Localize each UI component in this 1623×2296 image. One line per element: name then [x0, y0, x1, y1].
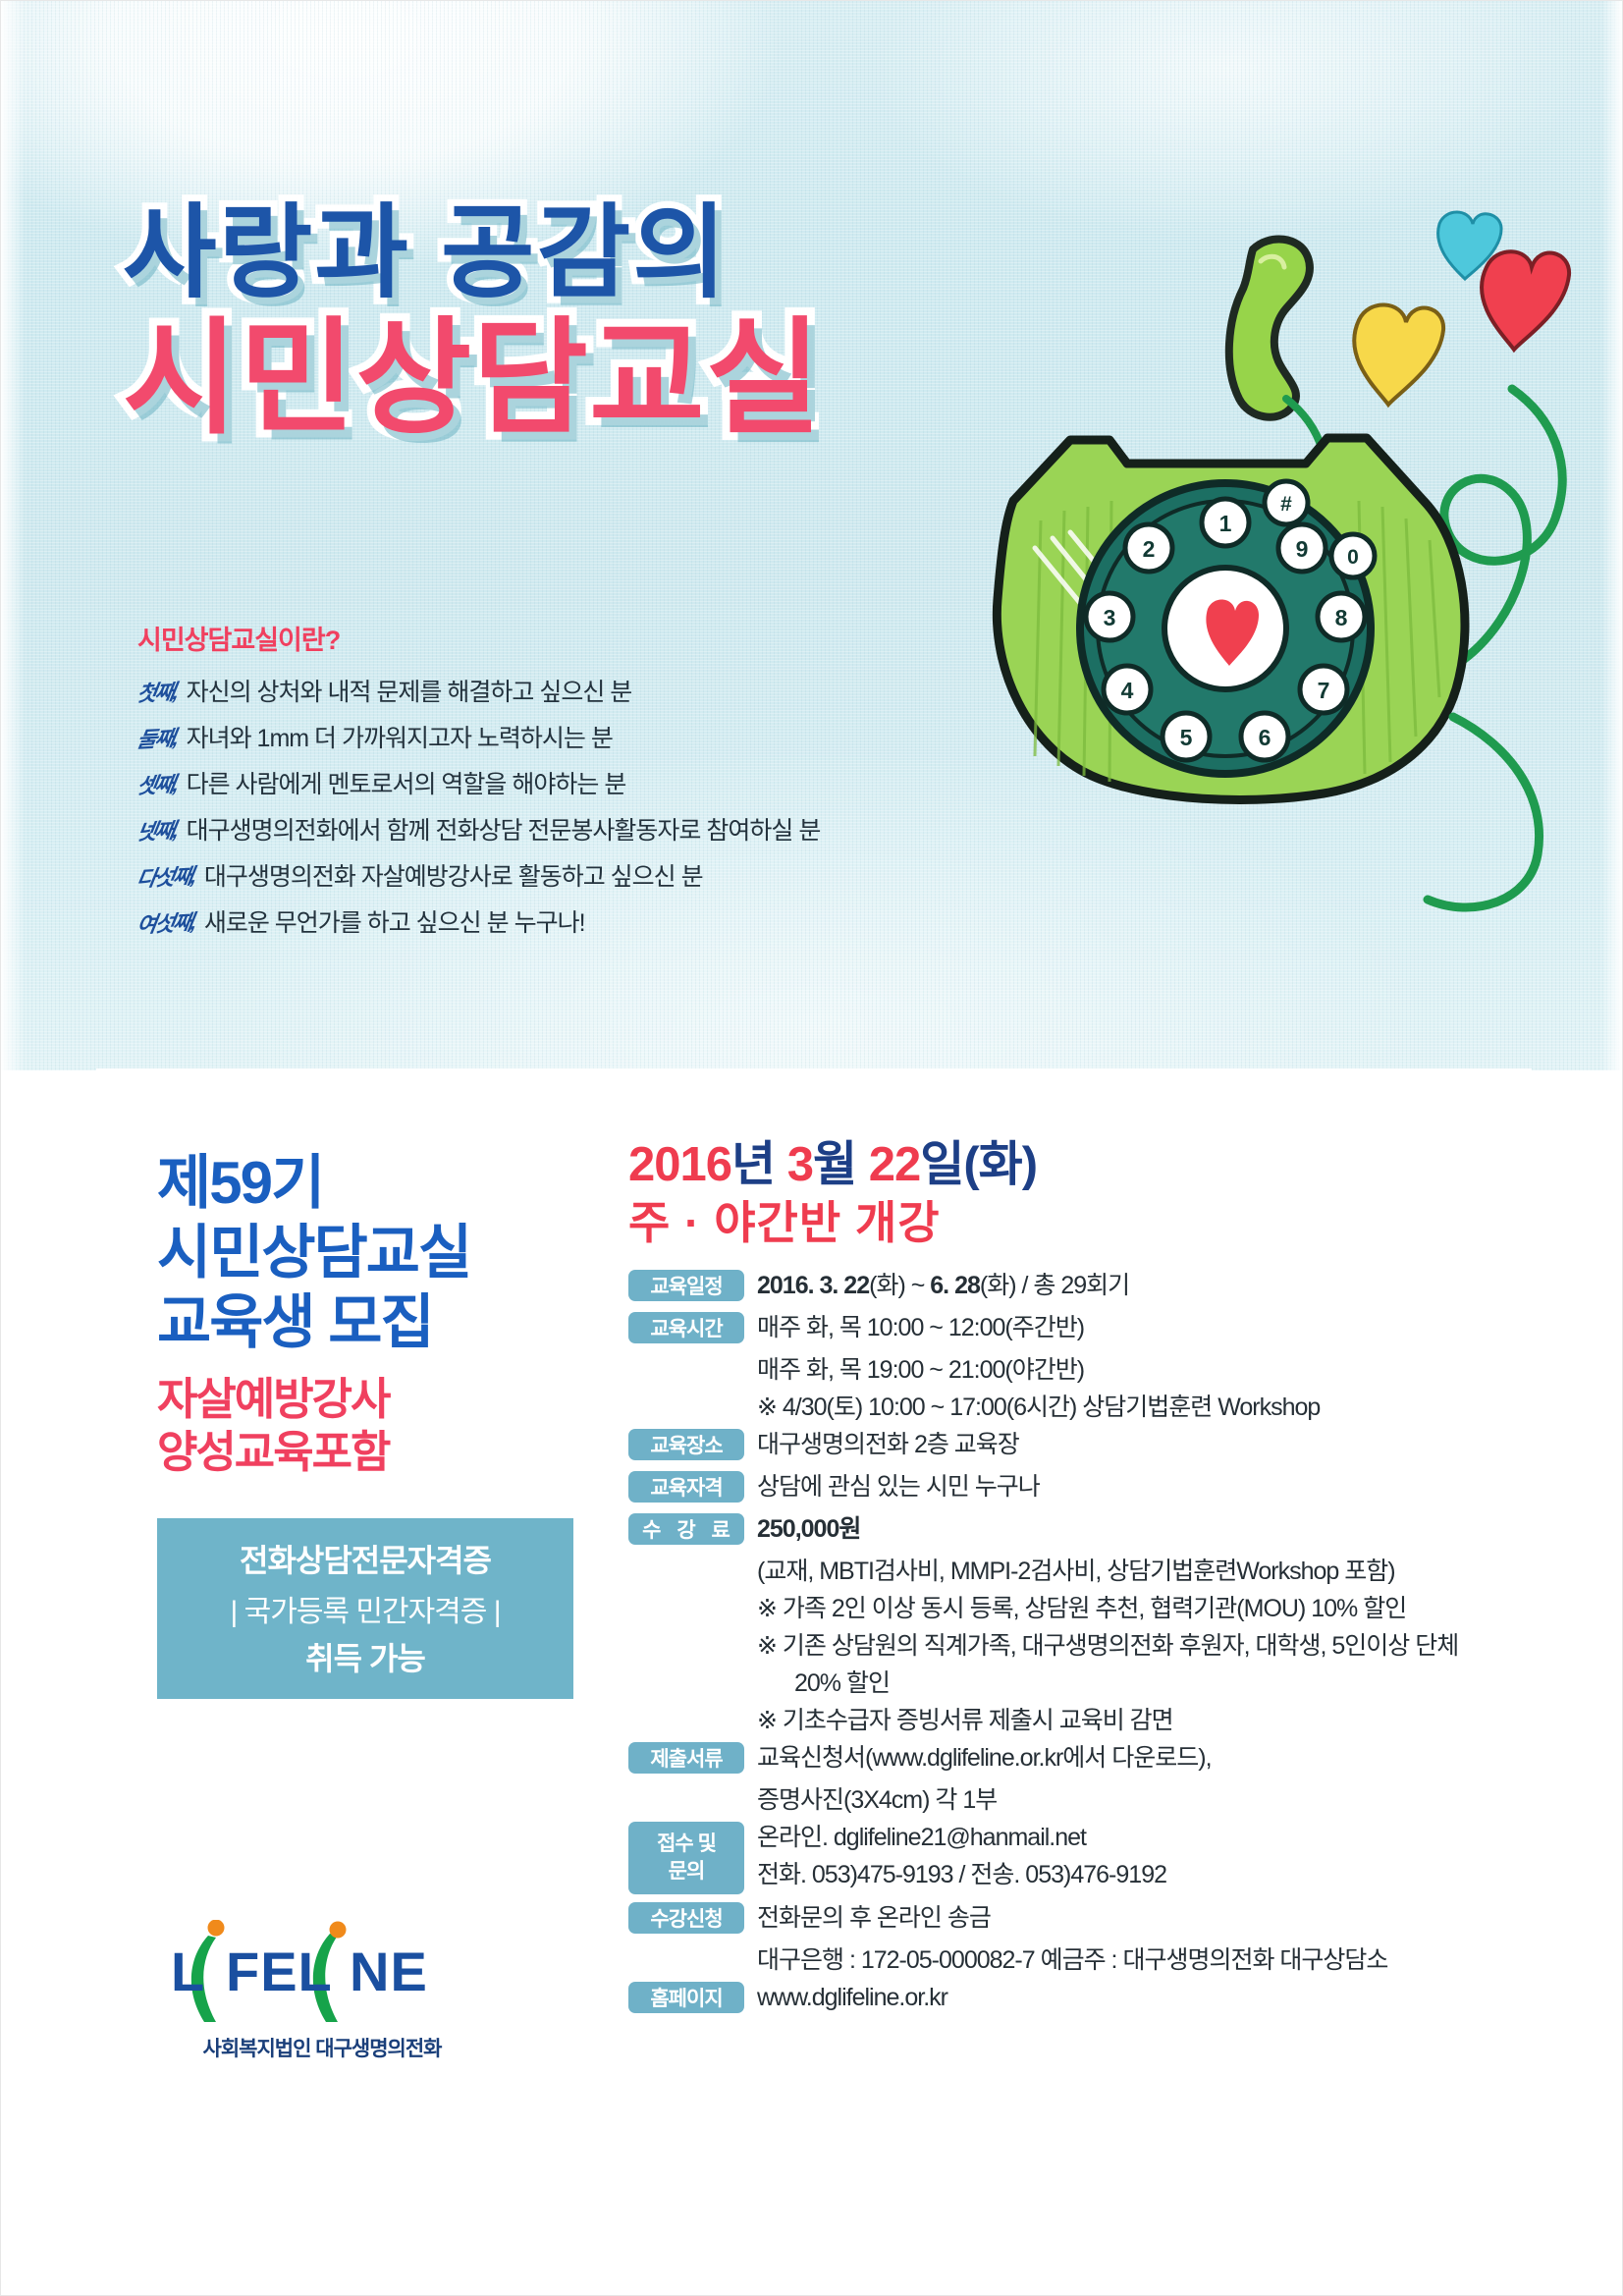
intro-item: 셋째, 다른 사람에게 멘토로서의 역할을 해야하는 분	[137, 765, 982, 800]
detail-extra-time-1: 매주 화, 목 19:00 ~ 21:00(야간반)	[757, 1351, 1512, 1389]
start-month: 3	[787, 1138, 813, 1191]
intro-text: 다른 사람에게 멘토로서의 역할을 해야하는 분	[187, 765, 626, 800]
detail-label-fee: 수 강 료	[628, 1513, 744, 1545]
detail-row-homepage: 홈페이지 www.dglifeline.or.kr	[628, 1979, 1512, 2016]
detail-value-application: 전화문의 후 온라인 송금	[757, 1899, 991, 1937]
detail-extra-fee-2: ※ 가족 2인 이상 동시 등록, 상담원 추천, 협력기관(MOU) 10% …	[757, 1590, 1512, 1627]
svg-text:6: 6	[1259, 725, 1271, 750]
start-day-suffix: 일(화)	[920, 1138, 1037, 1191]
svg-text:L: L	[171, 1941, 205, 2002]
detail-row-contact: 접수 및 문의 온라인. dglifeline21@hanmail.net 전화…	[628, 1819, 1512, 1894]
detail-extra-fee-1: (교재, MBTI검사비, MMPI-2검사비, 상담기법훈련Workshop …	[757, 1553, 1512, 1590]
svg-text:2: 2	[1143, 536, 1156, 562]
course-headline: 제59기 시민상담교실 교육생 모집	[157, 1149, 579, 1357]
detail-extra-fee-5: ※ 기초수급자 증빙서류 제출시 교육비 감면	[757, 1702, 1512, 1739]
start-day: 22	[869, 1138, 921, 1191]
title-line-2: 시민상담교실	[123, 315, 823, 444]
heart-red	[1482, 251, 1569, 350]
svg-text:4: 4	[1121, 678, 1134, 703]
start-year-suffix: 년	[731, 1138, 775, 1191]
detail-label-schedule: 교육일정	[628, 1270, 744, 1301]
course-subheadline-line-1: 자살예방강사	[157, 1373, 579, 1426]
detail-value-time: 매주 화, 목 10:00 ~ 12:00(주간반)	[757, 1309, 1084, 1346]
certificate-line-2: | 국가등록 민간자격증 |	[167, 1587, 564, 1630]
svg-text:#: #	[1280, 493, 1292, 516]
intro-ordinal: 셋째,	[135, 767, 180, 800]
detail-label-time: 교육시간	[628, 1312, 744, 1343]
svg-text:9: 9	[1296, 536, 1309, 562]
intro-item: 둘째, 자녀와 1mm 더 가까워지고자 노력하시는 분	[137, 719, 982, 754]
intro-ordinal: 첫째,	[135, 675, 180, 708]
svg-text:0: 0	[1347, 546, 1359, 569]
logo-subtitle: 사회복지법인 대구생명의전화	[165, 2033, 479, 2062]
detail-label-contact: 접수 및 문의	[628, 1822, 744, 1894]
sky-edge-right	[1601, 0, 1623, 1070]
detail-extra-bank: 대구은행 : 172-05-000082-7 예금주 : 대구생명의전화 대구상…	[757, 1941, 1512, 1979]
detail-value-documents: 교육신청서(www.dglifeline.or.kr에서 다운로드),	[757, 1739, 1212, 1777]
detail-extra-time-2: ※ 4/30(토) 10:00 ~ 17:00(6시간) 상담기법훈련 Work…	[757, 1389, 1512, 1426]
intro-text: 자신의 상처와 내적 문제를 해결하고 싶으신 분	[187, 673, 632, 708]
svg-text:FEL: FEL	[226, 1941, 333, 2002]
certificate-line-3: 취득 가능	[167, 1634, 564, 1679]
phone-handset	[1229, 240, 1310, 417]
poster-title: 사랑과 공감의 시민상담교실	[123, 201, 823, 444]
telephone-illustration: 1 2 3 4 5 6 7 8 9 #	[962, 206, 1591, 933]
detail-value-contact-phone: 전화. 053)475-9193 / 전송. 053)476-9192	[757, 1856, 1166, 1893]
detail-label-homepage: 홈페이지	[628, 1982, 744, 2013]
intro-ordinal: 넷째,	[135, 813, 180, 847]
right-column: 2016년 3월 22일(화) 주 · 야간반 개강 교육일정 2016. 3.…	[628, 1137, 1512, 2021]
detail-label-application: 수강신청	[628, 1902, 744, 1934]
schedule-end-suffix: (화) / 총 29회기	[980, 1272, 1129, 1299]
svg-text:8: 8	[1335, 605, 1348, 630]
certificate-box: 전화상담전문자격증 | 국가등록 민간자격증 | 취득 가능	[157, 1518, 573, 1699]
detail-row-documents: 제출서류 교육신청서(www.dglifeline.or.kr에서 다운로드),	[628, 1739, 1512, 1777]
start-month-suffix: 월	[813, 1138, 856, 1191]
course-subheadline-line-2: 양성교육포함	[157, 1426, 579, 1479]
logo-dot-right	[330, 1922, 347, 1939]
detail-rows: 교육일정 2016. 3. 22(화) ~ 6. 28(화) / 총 29회기 …	[628, 1267, 1512, 2016]
detail-extra-fee-4: 20% 할인	[794, 1665, 1512, 1702]
intro-heading: 시민상담교실이란?	[137, 619, 982, 657]
sky-edge-left	[0, 0, 26, 1070]
detail-label-eligibility: 교육자격	[628, 1471, 744, 1503]
detail-extra-documents-1: 증명사진(3X4cm) 각 1부	[757, 1781, 1512, 1819]
intro-text: 새로운 무언가를 하고 싶으신 분 누구나!	[204, 903, 585, 939]
detail-label-contact-line-1: 접수 및	[657, 1831, 716, 1858]
schedule-start-suffix: (화) ~	[869, 1272, 930, 1299]
detail-value-place: 대구생명의전화 2층 교육장	[757, 1426, 1019, 1463]
course-headline-line-1: 제59기	[157, 1149, 579, 1219]
svg-text:NE: NE	[350, 1941, 428, 2002]
intro-ordinal: 다섯째,	[135, 858, 198, 893]
intro-item: 다섯째, 대구생명의전화 자살예방강사로 활동하고 싶으신 분	[137, 857, 982, 893]
detail-row-fee: 수 강 료 250,000원	[628, 1510, 1512, 1548]
class-opening-line: 주 · 야간반 개강	[628, 1196, 1512, 1249]
detail-label-documents: 제출서류	[628, 1742, 744, 1774]
detail-value-fee: 250,000원	[757, 1510, 860, 1548]
detail-extra-fee-3: ※ 기존 상담원의 직계가족, 대구생명의전화 후원자, 대학생, 5인이상 단…	[757, 1627, 1512, 1665]
intro-text: 자녀와 1mm 더 가까워지고자 노력하시는 분	[187, 719, 613, 754]
course-headline-line-2: 시민상담교실	[157, 1219, 579, 1288]
detail-value-contact-online: 온라인. dglifeline21@hanmail.net	[757, 1819, 1166, 1856]
course-headline-line-3: 교육생 모집	[157, 1288, 579, 1358]
detail-row-application: 수강신청 전화문의 후 온라인 송금	[628, 1899, 1512, 1937]
poster-root: 1 2 3 4 5 6 7 8 9 #	[0, 0, 1623, 2296]
detail-value-schedule: 2016. 3. 22(화) ~ 6. 28(화) / 총 29회기	[757, 1267, 1129, 1304]
certificate-line-1: 전화상담전문자격증	[167, 1536, 564, 1581]
heart-yellow	[1354, 304, 1443, 405]
intro-ordinal: 둘째,	[135, 721, 180, 754]
intro-item: 여섯째, 새로운 무언가를 하고 싶으신 분 누구나!	[137, 903, 982, 939]
lifeline-logo-mark: L FEL NE	[165, 1920, 479, 2026]
intro-ordinal: 여섯째,	[135, 904, 198, 939]
phone-body: 1 2 3 4 5 6 7 8 9 #	[997, 438, 1465, 799]
intro-text: 대구생명의전화 자살예방강사로 활동하고 싶으신 분	[204, 857, 703, 893]
svg-text:1: 1	[1219, 511, 1232, 536]
svg-text:3: 3	[1104, 605, 1116, 630]
detail-row-eligibility: 교육자격 상담에 관심 있는 시민 누구나	[628, 1468, 1512, 1505]
detail-value-eligibility: 상담에 관심 있는 시민 누구나	[757, 1468, 1040, 1505]
intro-text: 대구생명의전화에서 함께 전화상담 전문봉사활동자로 참여하실 분	[187, 811, 821, 847]
schedule-end: 6. 28	[930, 1272, 980, 1299]
detail-value-homepage[interactable]: www.dglifeline.or.kr	[757, 1979, 947, 2016]
left-column: 제59기 시민상담교실 교육생 모집 자살예방강사 양성교육포함 전화상담전문자…	[157, 1149, 579, 1699]
detail-label-place: 교육장소	[628, 1429, 744, 1460]
svg-text:7: 7	[1318, 678, 1330, 703]
detail-label-contact-line-2: 문의	[669, 1858, 705, 1886]
detail-row-schedule: 교육일정 2016. 3. 22(화) ~ 6. 28(화) / 총 29회기	[628, 1267, 1512, 1304]
intro-section: 시민상담교실이란? 첫째, 자신의 상처와 내적 문제를 해결하고 싶으신 분 …	[137, 619, 982, 950]
logo-dot-left	[208, 1920, 225, 1937]
svg-text:5: 5	[1180, 725, 1193, 750]
schedule-start: 2016. 3. 22	[757, 1272, 869, 1299]
start-date-line: 2016년 3월 22일(화)	[628, 1137, 1512, 1194]
start-year: 2016	[628, 1138, 731, 1191]
detail-value-contact-group: 온라인. dglifeline21@hanmail.net 전화. 053)47…	[757, 1819, 1166, 1893]
title-line-1: 사랑과 공감의	[123, 201, 823, 305]
course-subheadline: 자살예방강사 양성교육포함	[157, 1373, 579, 1479]
intro-item: 첫째, 자신의 상처와 내적 문제를 해결하고 싶으신 분	[137, 673, 982, 708]
detail-row-place: 교육장소 대구생명의전화 2층 교육장	[628, 1426, 1512, 1463]
intro-item: 넷째, 대구생명의전화에서 함께 전화상담 전문봉사활동자로 참여하실 분	[137, 811, 982, 847]
detail-row-time: 교육시간 매주 화, 목 10:00 ~ 12:00(주간반)	[628, 1309, 1512, 1346]
lifeline-logo: L FEL NE 사회복지법인 대구생명의전화	[165, 1920, 479, 2062]
